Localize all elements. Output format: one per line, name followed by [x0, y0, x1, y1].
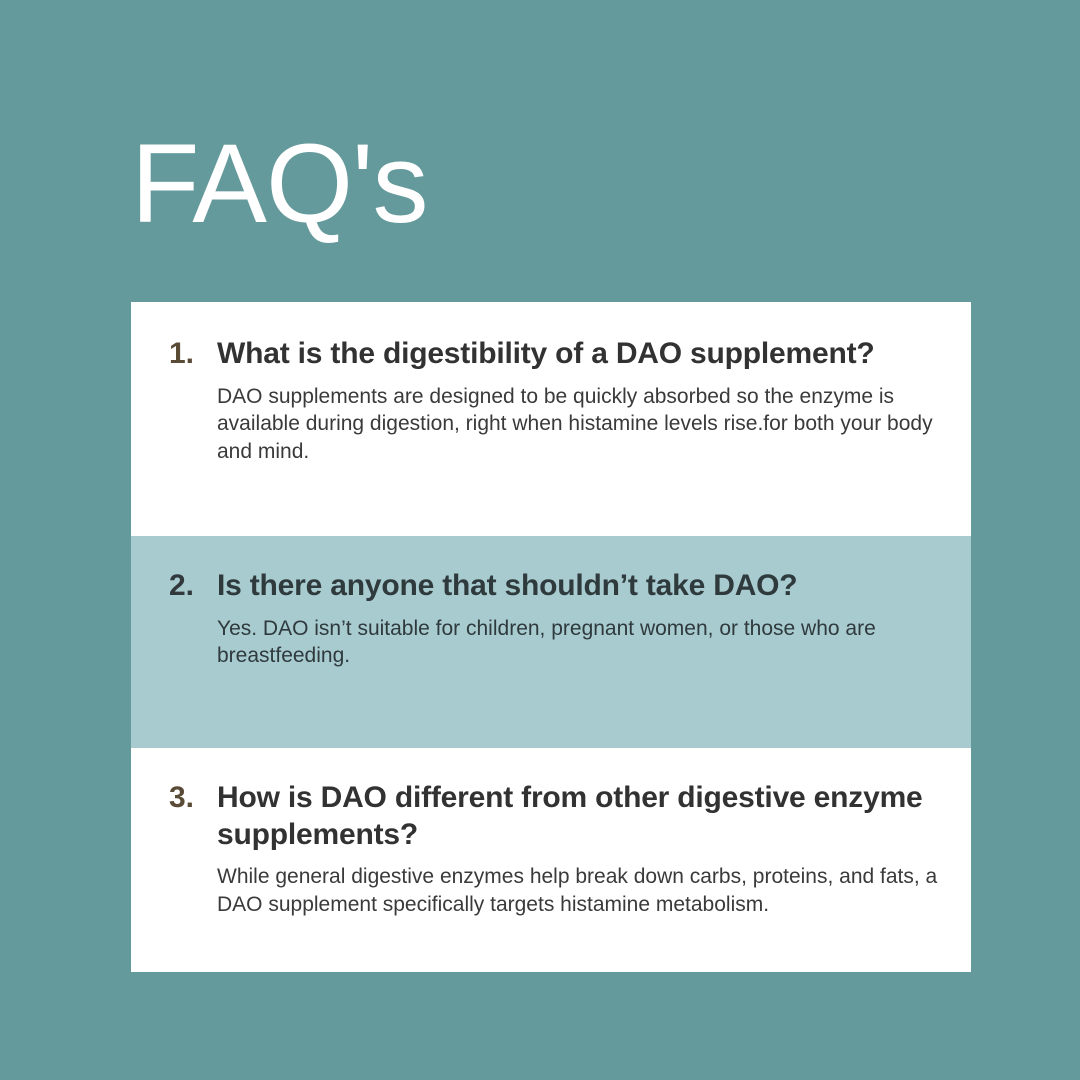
faq-head: 2. Is there anyone that shouldn’t take D…: [169, 568, 939, 605]
faq-head: 3. How is DAO different from other diges…: [169, 780, 939, 853]
faq-head: 1. What is the digestibility of a DAO su…: [169, 336, 939, 373]
faq-number-3: 3.: [169, 780, 217, 817]
faq-number-1: 1.: [169, 336, 217, 373]
faq-question-2: Is there anyone that shouldn’t take DAO?: [217, 568, 939, 605]
faq-number-2: 2.: [169, 568, 217, 605]
faq-poster: FAQ's 1. What is the digestibility of a …: [0, 0, 1080, 1080]
page-title: FAQ's: [131, 128, 427, 240]
faq-item-1[interactable]: 1. What is the digestibility of a DAO su…: [131, 302, 971, 536]
faq-card: 1. What is the digestibility of a DAO su…: [131, 302, 971, 972]
faq-answer-1: DAO supplements are designed to be quick…: [217, 383, 939, 466]
faq-question-3: How is DAO different from other digestiv…: [217, 780, 939, 853]
faq-item-3[interactable]: 3. How is DAO different from other diges…: [131, 748, 971, 972]
faq-question-1: What is the digestibility of a DAO suppl…: [217, 336, 939, 373]
faq-item-2[interactable]: 2. Is there anyone that shouldn’t take D…: [131, 536, 971, 748]
faq-answer-2: Yes. DAO isn’t suitable for children, pr…: [217, 615, 939, 670]
faq-answer-3: While general digestive enzymes help bre…: [217, 863, 939, 918]
